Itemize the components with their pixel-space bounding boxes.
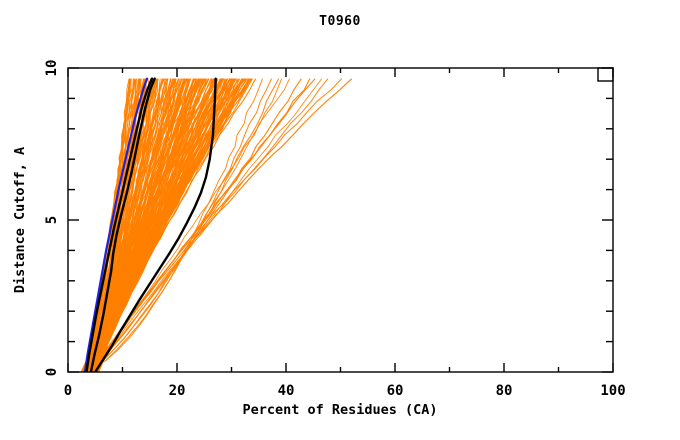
x-tick-label: 0 bbox=[64, 383, 72, 399]
y-tick-label: 10 bbox=[44, 60, 60, 77]
x-tick-label: 100 bbox=[600, 383, 625, 399]
y-tick-label: 5 bbox=[44, 216, 60, 224]
x-tick-label: 20 bbox=[169, 383, 186, 399]
corner-notch bbox=[598, 68, 613, 81]
x-tick-label: 60 bbox=[387, 383, 404, 399]
chart-page: T0960 0204060801000510 Percent of Residu… bbox=[0, 0, 680, 440]
x-tick-label: 40 bbox=[278, 383, 295, 399]
series-layer bbox=[81, 79, 351, 372]
x-axis-label: Percent of Residues (CA) bbox=[242, 402, 437, 418]
y-axis-label: Distance Cutoff, A bbox=[12, 147, 28, 293]
x-tick-label: 80 bbox=[496, 383, 513, 399]
y-tick-label: 0 bbox=[44, 368, 60, 376]
distance-cutoff-plot: 0204060801000510 Percent of Residues (CA… bbox=[0, 0, 680, 440]
